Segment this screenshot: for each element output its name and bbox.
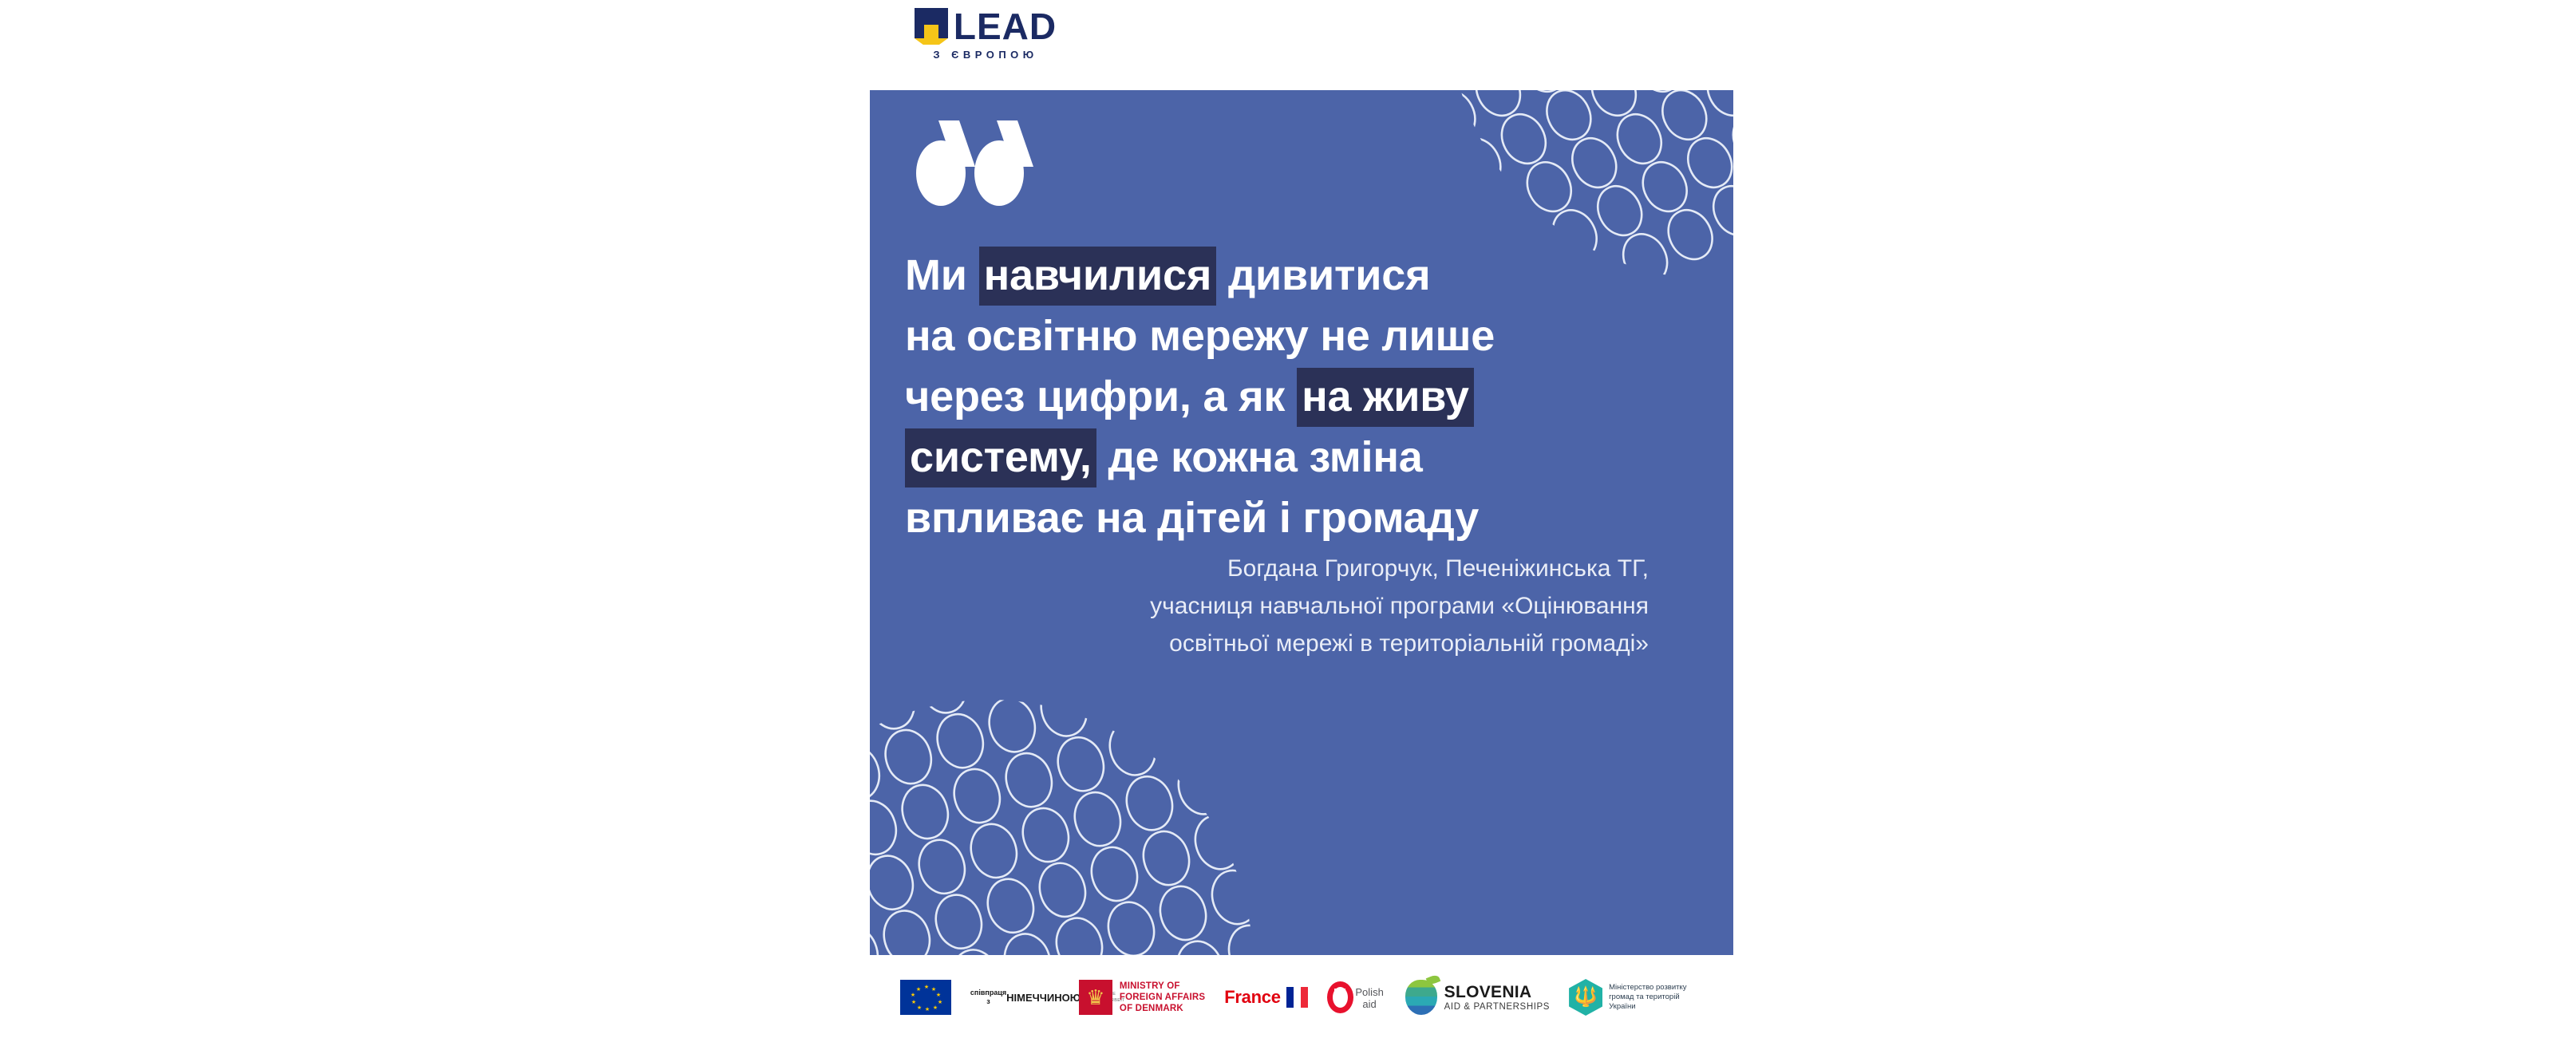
donor-logo-ukraine-ministry: 🔱 Міністерство розвитку громад та терито… — [1569, 979, 1703, 1016]
quote-segment-plain: на освітню мережу не лише — [905, 312, 1495, 360]
attribution-line: Богдана Григорчук, Печеніжинська ТГ, — [918, 550, 1649, 587]
denmark-line-1: MINISTRY OF — [1120, 981, 1205, 992]
logo-tagline: З ЄВРОПОЮ — [933, 49, 1037, 61]
danish-crown-icon: ♛ — [1079, 980, 1112, 1015]
slovenia-line-2: AID & PARTNERSHIPS — [1444, 1001, 1550, 1012]
quote-segment-plain: Ми — [905, 251, 979, 299]
france-label: France — [1224, 987, 1280, 1008]
donor-logo-slovenia: SLOVENIA AID & PARTNERSHIPS — [1405, 980, 1550, 1015]
attribution-line: освітньої мережі в територіальній громад… — [918, 625, 1649, 662]
france-flag-icon — [1286, 987, 1308, 1008]
quote-segment-plain: де кожна зміна — [1096, 433, 1423, 481]
slovenia-line-1: SLOVENIA — [1444, 983, 1550, 1001]
quote-line: впливає на дітей і громаду — [905, 487, 1703, 548]
logo-wordmark: LEAD — [954, 8, 1057, 45]
quote-segment-plain: впливає на дітей і громаду — [905, 494, 1479, 542]
quote-text: Ми навчилися дивитися на освітню мережу … — [905, 245, 1703, 548]
donor-logo-france: France — [1224, 987, 1307, 1008]
quote-line: на освітню мережу не лише — [905, 306, 1703, 366]
quote-segment-highlighted: на живу — [1297, 368, 1474, 427]
quote-line: Ми навчилися дивитися — [905, 245, 1703, 306]
denmark-line-3: OF DENMARK — [1120, 1003, 1205, 1014]
denmark-mfa-text: MINISTRY OF FOREIGN AFFAIRS OF DENMARK — [1120, 981, 1205, 1014]
quote-segment-plain: через цифри, а як — [905, 373, 1297, 420]
poster-page: LEAD З ЄВРОПОЮ — [0, 0, 2576, 1046]
quote-segment-highlighted: систему, — [905, 428, 1096, 487]
quote-attribution: Богдана Григорчук, Печеніжинська ТГ, уча… — [918, 550, 1685, 662]
ukraine-ministry-label: Міністерство розвитку громад та територі… — [1609, 983, 1703, 1012]
quote-card: Ми навчилися дивитися на освітню мережу … — [870, 90, 1733, 955]
quote-segment-plain: дивитися — [1216, 251, 1430, 299]
denmark-line-2: FOREIGN AFFAIRS — [1120, 992, 1205, 1003]
slovenia-apple-icon — [1405, 980, 1437, 1015]
donor-logo-german-cooperation: співпраця з НІМЕЧЧИНОЮ DEUTSCHE ZUSAMMEN… — [970, 987, 1060, 1008]
ellipse-pattern-bottom-left — [870, 644, 1261, 955]
u-lead-logo-icon — [915, 8, 948, 45]
ukrainian-trident-icon: 🔱 — [1569, 979, 1602, 1016]
quote-segment-highlighted: навчилися — [979, 247, 1217, 306]
quotation-mark-icon — [916, 120, 1060, 224]
quote-line: систему, де кожна зміна — [905, 427, 1703, 487]
donor-logo-denmark-mfa: ♛ MINISTRY OF FOREIGN AFFAIRS OF DENMARK — [1079, 980, 1205, 1015]
european-union-flag-icon: ★ ★ ★ ★ ★ ★ ★ ★ ★ ★ — [900, 980, 951, 1015]
german-cooperation-line-1: співпраця з — [970, 989, 1006, 1006]
logo-row: LEAD — [915, 5, 1057, 45]
donor-logos-bar: ★ ★ ★ ★ ★ ★ ★ ★ ★ ★ співпраця з НІ — [870, 969, 1733, 1025]
donor-logo-european-union: ★ ★ ★ ★ ★ ★ ★ ★ ★ ★ — [900, 980, 951, 1015]
donor-logo-polish-aid: Polish aid — [1327, 981, 1386, 1013]
quote-line: через цифри, а як на живу — [905, 366, 1703, 427]
german-cooperation-line-2: НІМЕЧЧИНОЮ — [1006, 992, 1081, 1004]
polish-aid-label: Polish aid — [1353, 986, 1386, 1010]
attribution-line: учасниця навчальної програми «Оцінювання — [918, 587, 1649, 625]
slovenia-text: SLOVENIA AID & PARTNERSHIPS — [1444, 983, 1550, 1012]
polish-aid-mark-icon — [1327, 981, 1353, 1013]
ulead-logo: LEAD З ЄВРОПОЮ — [898, 5, 1073, 65]
